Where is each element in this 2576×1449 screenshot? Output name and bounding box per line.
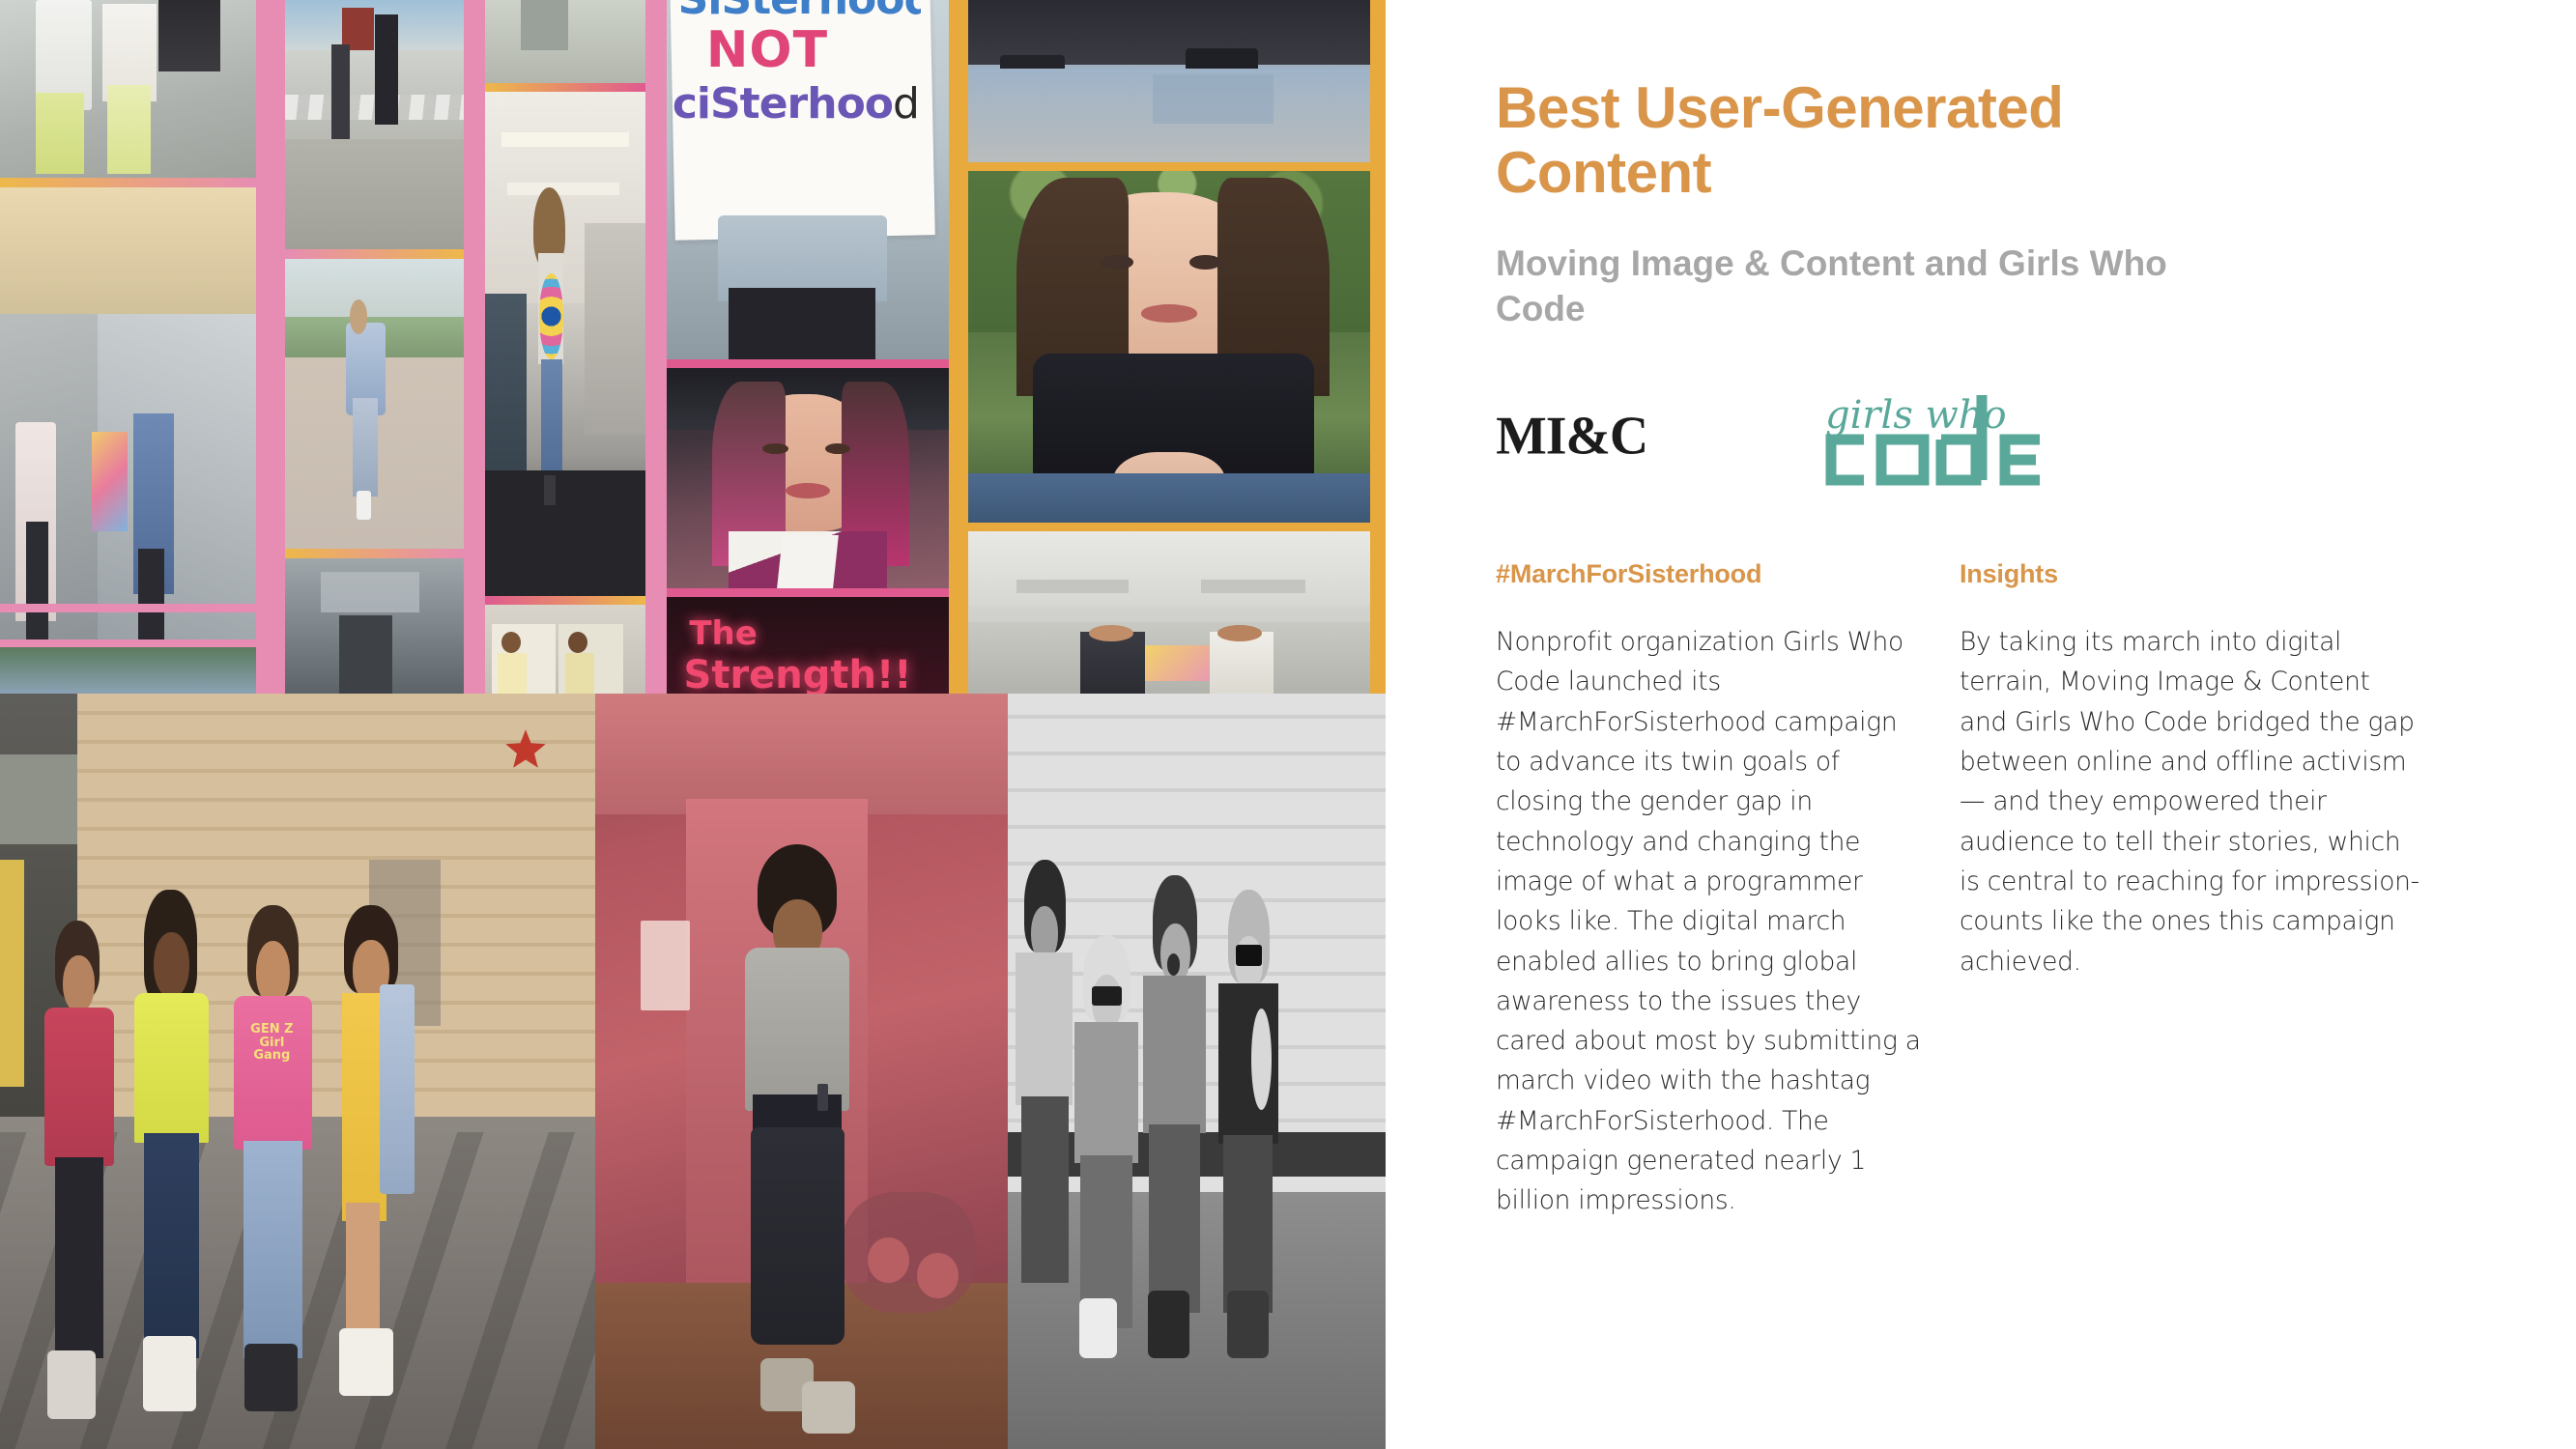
collage-divider [968, 162, 1370, 171]
collage-divider [1370, 0, 1386, 694]
collage-cell [285, 558, 464, 694]
collage-cell [968, 531, 1370, 694]
photo-pink-hallway [595, 694, 1008, 1449]
collage-divider [464, 0, 485, 694]
collage-divider [667, 588, 949, 597]
collage-divider [667, 359, 949, 368]
collage-column-1 [0, 0, 256, 694]
collage-divider [256, 0, 285, 694]
collage-column-2 [285, 0, 464, 694]
collage-divider [285, 549, 464, 558]
column-march-for-sisterhood: #MarchForSisterhood Nonprofit organizati… [1496, 559, 1923, 1221]
photo-four-women-walking: GEN ZGirl Gang [0, 694, 595, 1449]
collage-column-4: SiSterhood NOT ciSterhood [667, 0, 949, 694]
collage-cell: The Strength!! [667, 597, 949, 694]
media-panel: SiSterhood NOT ciSterhood [0, 0, 1386, 1449]
collage-cell-protest-sign: SiSterhood NOT ciSterhood [667, 0, 949, 359]
column-insights: Insights By taking its march into digita… [1960, 559, 2421, 1221]
photo-group-bw [1008, 694, 1386, 1449]
collage-divider [0, 639, 256, 647]
collage-cell [485, 92, 645, 596]
collage-divider [285, 249, 464, 259]
collage-cell [968, 0, 1370, 162]
collage-column-3 [485, 0, 645, 694]
collage-cell [0, 187, 256, 639]
collage-divider [485, 83, 645, 92]
body-columns: #MarchForSisterhood Nonprofit organizati… [1496, 559, 2510, 1221]
award-title: Best User-Generated Content [1496, 75, 2230, 205]
girls-who-code-logo: girls who [1821, 385, 2082, 491]
collage-divider [485, 596, 645, 605]
collage-cell [0, 0, 256, 178]
photo-row: GEN ZGirl Gang [0, 694, 1386, 1449]
collage-cell [968, 171, 1370, 523]
red-star-icon [503, 727, 548, 772]
column-heading: Insights [1960, 559, 2421, 589]
collage-divider [949, 0, 968, 694]
column-body: By taking its march into digital terrain… [1960, 622, 2421, 981]
collage-cell [485, 0, 645, 83]
video-collage-grid: SiSterhood NOT ciSterhood [0, 0, 1386, 694]
collage-divider [968, 523, 1370, 531]
svg-text:MI&C: MI&C [1496, 408, 1647, 464]
collage-cell [485, 605, 645, 694]
collage-divider [645, 0, 667, 694]
collage-divider [0, 178, 256, 187]
collage-cell [285, 0, 464, 249]
slide-canvas: SiSterhood NOT ciSterhood [0, 0, 2576, 1449]
collage-column-5 [968, 0, 1370, 694]
logo-row: MI&C girls who [1496, 385, 2510, 492]
collage-cell [0, 647, 256, 694]
award-text-panel: Best User-Generated Content Moving Image… [1496, 0, 2510, 1449]
collage-cell [285, 259, 464, 549]
mic-logo: MI&C [1496, 408, 1703, 469]
column-body: Nonprofit organization Girls Who Code la… [1496, 622, 1923, 1221]
award-subtitle: Moving Image & Content and Girls Who Cod… [1496, 241, 2191, 331]
collage-cell [667, 368, 949, 588]
column-heading: #MarchForSisterhood [1496, 559, 1923, 589]
